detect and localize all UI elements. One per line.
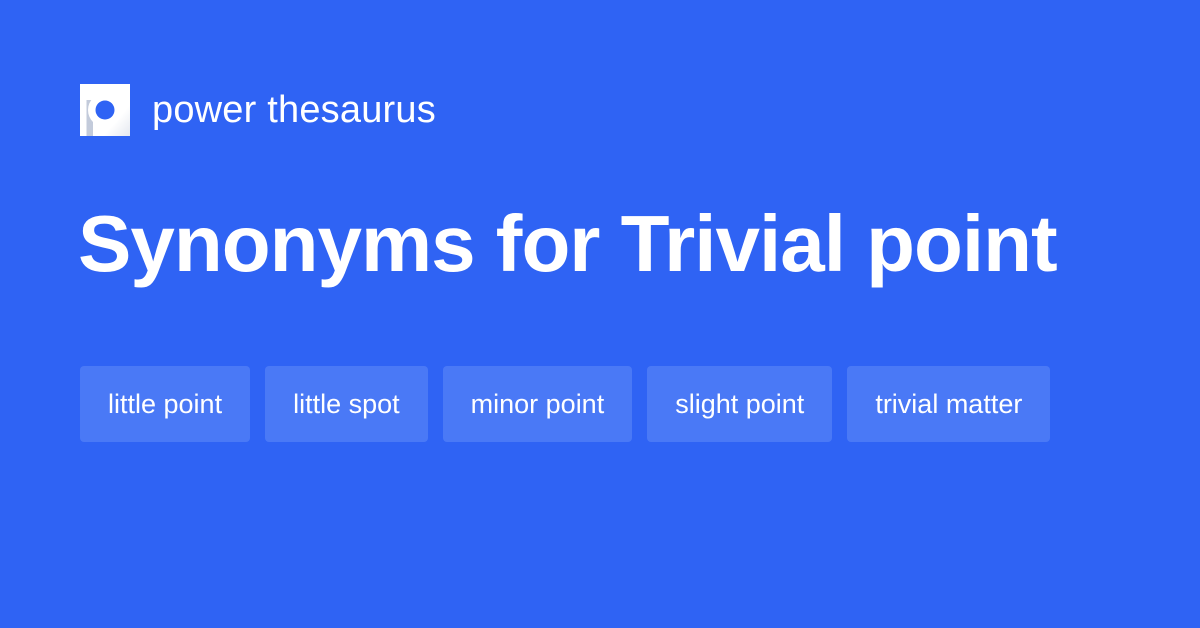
brand-name: power thesaurus bbox=[152, 89, 436, 131]
synonym-chip[interactable]: slight point bbox=[647, 366, 832, 442]
synonym-chip[interactable]: trivial matter bbox=[847, 366, 1050, 442]
power-thesaurus-b-logo-icon bbox=[80, 84, 130, 136]
synonym-chip[interactable]: minor point bbox=[443, 366, 633, 442]
synonym-chip-list: little point little spot minor point sli… bbox=[80, 366, 1140, 442]
brand-logo[interactable]: power thesaurus bbox=[80, 82, 436, 138]
synonym-chip[interactable]: little spot bbox=[265, 366, 428, 442]
share-card: power thesaurus Synonyms for Trivial poi… bbox=[0, 0, 1200, 628]
page-title: Synonyms for Trivial point bbox=[78, 198, 1057, 290]
synonym-chip[interactable]: little point bbox=[80, 366, 250, 442]
